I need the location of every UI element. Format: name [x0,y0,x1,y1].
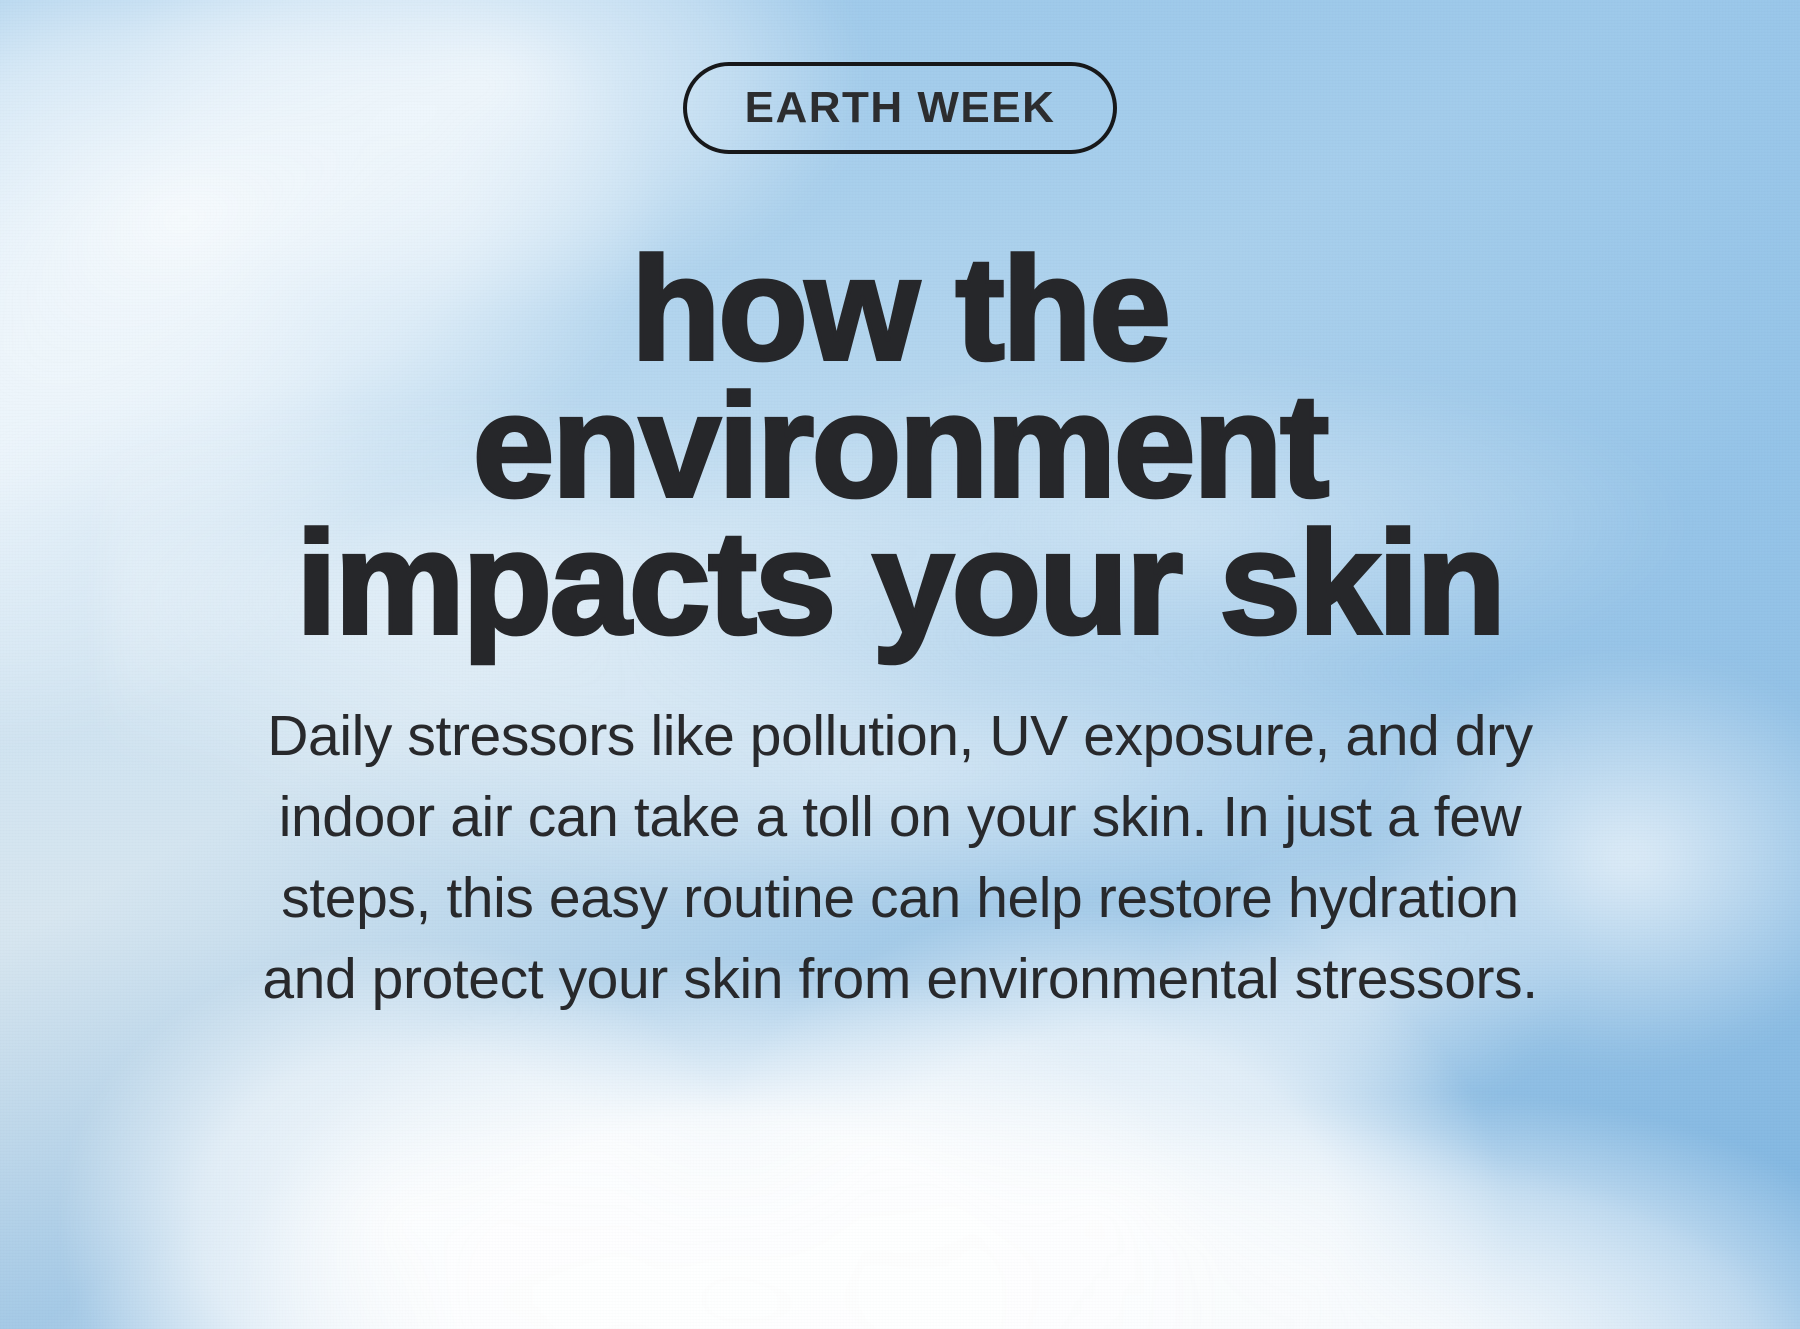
headline-line-3: impacts your skin [20,514,1780,651]
headline-line-1: how the [20,240,1780,377]
page-title: how the environment impacts your skin [0,240,1800,652]
headline-line-2: environment [20,377,1780,514]
body-line-1: Daily stressors like pollution, UV expos… [120,696,1680,777]
body-line-4: and protect your skin from environmental… [120,939,1680,1020]
hero-description: Daily stressors like pollution, UV expos… [120,696,1680,1020]
body-line-2: indoor air can take a toll on your skin.… [120,777,1680,858]
earth-week-badge: EARTH WEEK [683,62,1118,154]
earth-week-badge-label: EARTH WEEK [745,86,1056,130]
earth-week-hero-banner: EARTH WEEK how the environment impacts y… [0,0,1800,1329]
body-line-3: steps, this easy routine can help restor… [120,858,1680,939]
hero-content: EARTH WEEK how the environment impacts y… [0,0,1800,1329]
